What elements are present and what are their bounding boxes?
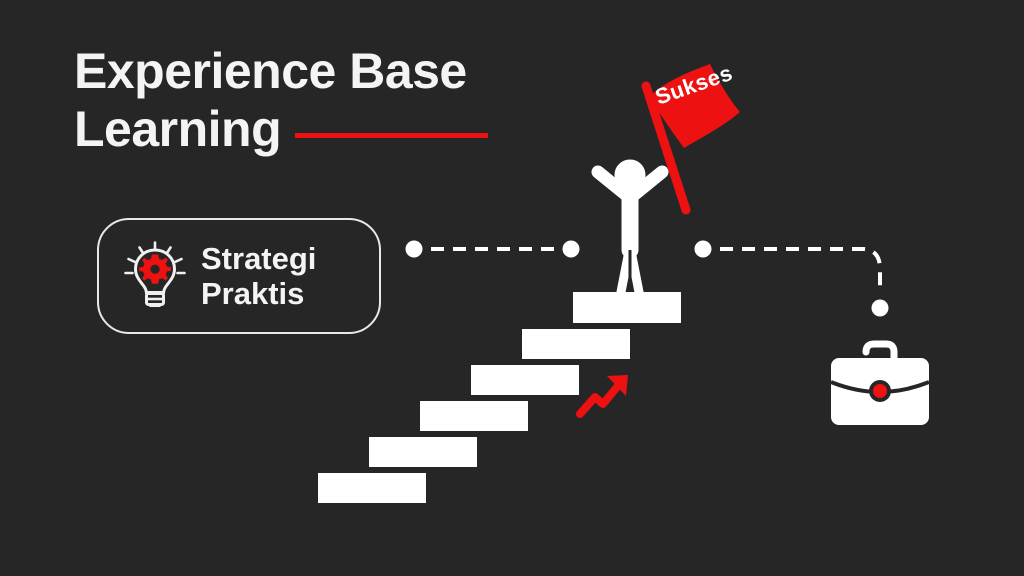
- stair-step-3: [420, 401, 528, 431]
- title-line-2: Learning: [74, 100, 281, 158]
- title-line-2-row: Learning: [74, 100, 594, 158]
- title-line-1: Experience Base: [74, 42, 594, 100]
- stair-step-5: [522, 329, 630, 359]
- page-title: Experience Base Learning: [74, 42, 594, 158]
- stair-step-4: [471, 365, 579, 395]
- growth-arrow-icon: [576, 370, 636, 420]
- success-flag: [632, 58, 750, 218]
- dashed-connector-left: [405, 238, 580, 260]
- strategi-praktis-label: Strategi Praktis: [201, 241, 316, 311]
- strategi-praktis-badge[interactable]: Strategi Praktis: [97, 218, 381, 334]
- slide-canvas: Experience Base Learning: [0, 0, 1024, 576]
- lightbulb-gear-icon: [123, 241, 187, 311]
- dashed-connector-right: [694, 238, 899, 328]
- stair-step-2: [369, 437, 477, 467]
- stair-step-1: [318, 473, 426, 503]
- title-underline-rule: [295, 133, 488, 138]
- briefcase-icon: [826, 338, 934, 430]
